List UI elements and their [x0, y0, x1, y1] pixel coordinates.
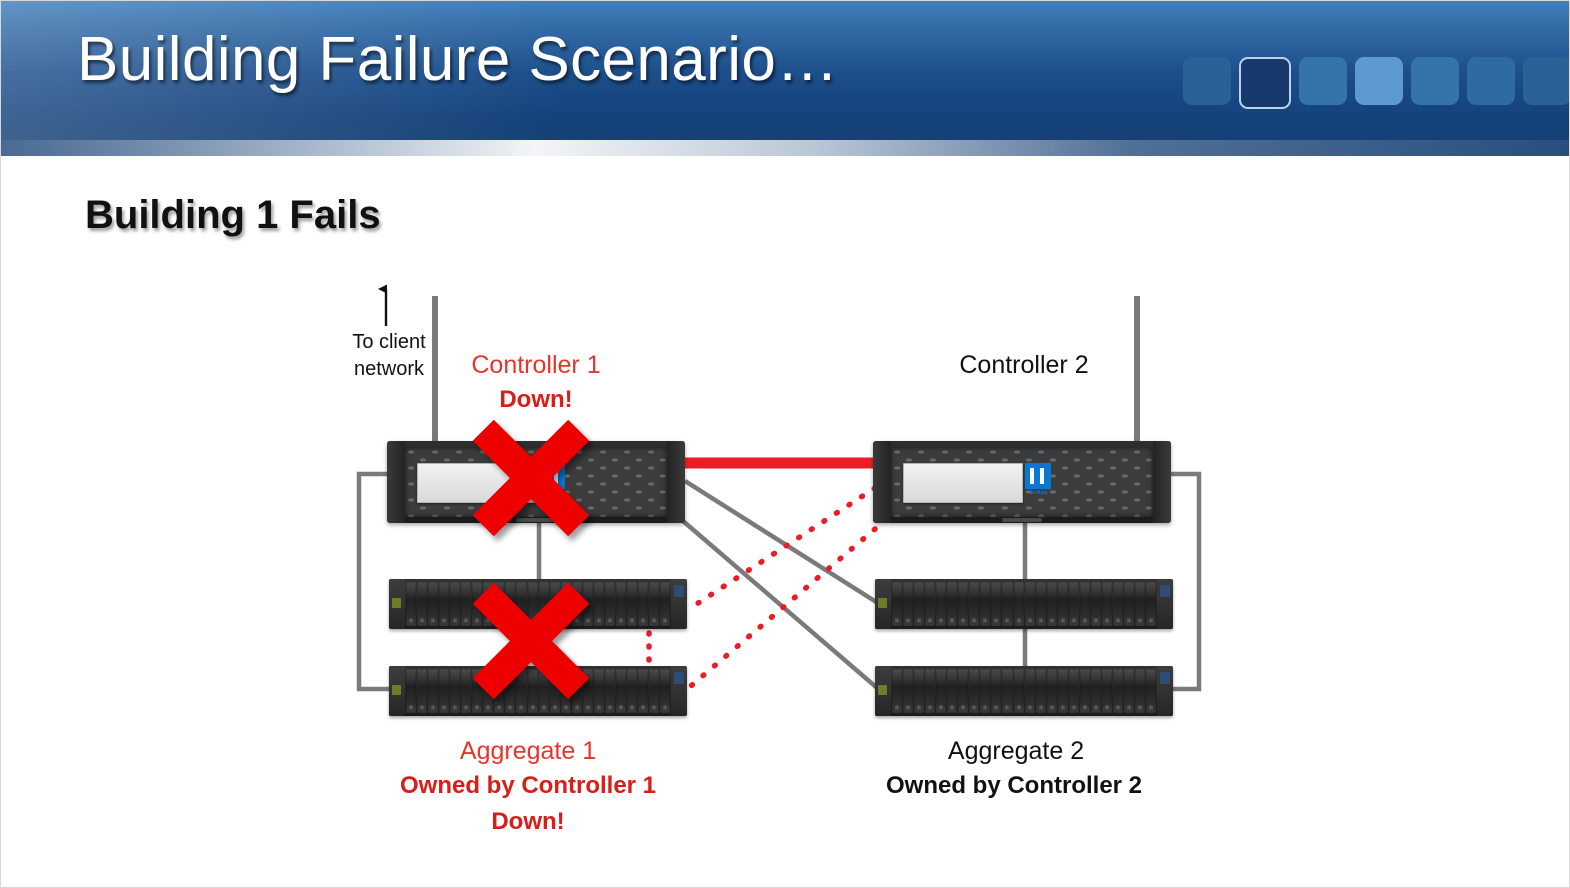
drive-bay	[494, 582, 504, 626]
drive-bay	[572, 582, 582, 626]
drive-bay	[483, 669, 493, 713]
drive-bay	[638, 582, 648, 626]
drive-bay	[539, 669, 549, 713]
drive-bay	[505, 669, 515, 713]
drive-bay	[1002, 582, 1012, 626]
netapp-logo: NetApp	[1023, 463, 1053, 501]
drive-bay	[627, 582, 637, 626]
drive-bay	[958, 669, 968, 713]
drive-bay	[583, 582, 593, 626]
drive-bay	[428, 582, 438, 626]
shelf-endcap-left	[389, 579, 405, 629]
chassis-label-plate	[417, 463, 537, 503]
drive-bay	[892, 582, 902, 626]
controller-2-chassis[interactable]: NetApp	[873, 441, 1171, 523]
aggregate-2-owner: Owned by Controller 2	[877, 772, 1151, 800]
drive-bay	[1058, 669, 1068, 713]
drive-bay	[616, 582, 626, 626]
drive-bay	[914, 582, 924, 626]
shelf-endcap-right	[671, 579, 687, 629]
netapp-logo: NetApp	[537, 463, 567, 501]
drive-bay	[1135, 582, 1145, 626]
shelf-drive-bays	[405, 579, 671, 629]
drive-bay	[1047, 582, 1057, 626]
aggregate-2-label: Aggregate 2	[941, 737, 1091, 766]
drive-bay	[1102, 669, 1112, 713]
aggregate-1-shelf-bottom[interactable]	[389, 666, 687, 716]
drive-bay	[594, 582, 604, 626]
drive-bay	[528, 582, 538, 626]
drive-bay	[594, 669, 604, 713]
drive-bay	[947, 669, 957, 713]
drive-bay	[539, 582, 549, 626]
aggregate-2-shelf-bottom[interactable]	[875, 666, 1173, 716]
drive-bay	[1091, 582, 1101, 626]
drive-bay	[991, 582, 1001, 626]
cable-layer	[1, 1, 1570, 888]
drive-bay	[969, 582, 979, 626]
netapp-logo-mark	[1025, 463, 1051, 489]
drive-bay	[461, 669, 471, 713]
controller-2-label: Controller 2	[949, 351, 1099, 380]
drive-bay	[483, 582, 493, 626]
c2-to-shelf1b-link	[685, 529, 875, 691]
drive-bay	[1124, 582, 1134, 626]
aggregate-1-owner: Owned by Controller 1	[391, 772, 665, 800]
drive-bay	[1124, 669, 1134, 713]
chassis-bottom-slot	[516, 518, 556, 522]
drive-bay	[925, 669, 935, 713]
chassis-endcap-left	[873, 441, 891, 523]
drive-bay	[561, 669, 571, 713]
drive-bay	[1146, 669, 1156, 713]
drive-bay	[1047, 669, 1057, 713]
drive-bay	[550, 669, 560, 713]
drive-bay	[1014, 582, 1024, 626]
drive-bay	[649, 582, 659, 626]
drive-bay	[1135, 669, 1145, 713]
shelf-drive-bays	[891, 666, 1157, 716]
shelf-endcap-left	[389, 666, 405, 716]
drive-bay	[450, 582, 460, 626]
controller-1-label: Controller 1	[461, 351, 611, 380]
chassis-endcap-right	[1153, 441, 1171, 523]
drive-bay	[1069, 669, 1079, 713]
chassis-bottom-slot	[1002, 518, 1042, 522]
drive-bay	[472, 582, 482, 626]
drive-bay	[439, 582, 449, 626]
uplink-label: To client network	[344, 329, 434, 383]
drive-bay	[1091, 669, 1101, 713]
chassis-label-plate	[903, 463, 1023, 503]
drive-bay	[1113, 582, 1123, 626]
drive-bay	[528, 669, 538, 713]
drive-bay	[649, 669, 659, 713]
drive-bay	[1036, 582, 1046, 626]
drive-bay	[947, 582, 957, 626]
drive-bay	[914, 669, 924, 713]
netapp-logo-mark	[539, 463, 565, 489]
drive-bay	[969, 669, 979, 713]
drive-bay	[505, 582, 515, 626]
drive-bay	[1080, 582, 1090, 626]
shelf-endcap-left	[875, 666, 891, 716]
drive-bay	[1080, 669, 1090, 713]
shelf-endcap-right	[1157, 579, 1173, 629]
drive-bay	[1036, 669, 1046, 713]
controller-1-status: Down!	[461, 386, 611, 414]
aggregate-1-label: Aggregate 1	[453, 737, 603, 766]
drive-bay	[572, 669, 582, 713]
netapp-wordmark: NetApp	[1029, 490, 1048, 496]
netapp-wordmark: NetApp	[543, 490, 562, 496]
shelf-endcap-right	[1157, 666, 1173, 716]
drive-bay	[1002, 669, 1012, 713]
drive-bay	[1069, 582, 1079, 626]
drive-bay	[439, 669, 449, 713]
drive-bay	[936, 582, 946, 626]
drive-bay	[450, 669, 460, 713]
chassis-endcap-right	[667, 441, 685, 523]
aggregate-1-status: Down!	[453, 808, 603, 836]
shelf-drive-bays	[891, 579, 1157, 629]
drive-bay	[903, 669, 913, 713]
drive-bay	[1113, 669, 1123, 713]
shelf-endcap-left	[875, 579, 891, 629]
drive-bay	[616, 669, 626, 713]
drive-bay	[583, 669, 593, 713]
slide-canvas: Building Failure Scenario… Building 1 Fa…	[0, 0, 1570, 888]
drive-bay	[1146, 582, 1156, 626]
shelf-drive-bays	[405, 666, 671, 716]
drive-bay	[406, 669, 416, 713]
architecture-diagram: NetApp NetApp	[1, 1, 1570, 888]
drive-bay	[1025, 582, 1035, 626]
drive-bay	[561, 582, 571, 626]
drive-bay	[417, 669, 427, 713]
drive-bay	[472, 669, 482, 713]
drive-bay	[406, 582, 416, 626]
drive-bay	[516, 669, 526, 713]
aggregate-2-shelf-top[interactable]	[875, 579, 1173, 629]
controller-1-chassis[interactable]: NetApp	[387, 441, 685, 523]
drive-bay	[936, 669, 946, 713]
c1-to-shelf2a-link	[685, 481, 881, 605]
drive-bay	[991, 669, 1001, 713]
drive-bay	[627, 669, 637, 713]
shelf-endcap-right	[671, 666, 687, 716]
drive-bay	[1025, 669, 1035, 713]
drive-bay	[550, 582, 560, 626]
drive-bay	[660, 669, 670, 713]
drive-bay	[428, 669, 438, 713]
drive-bay	[494, 669, 504, 713]
drive-bay	[1102, 582, 1112, 626]
drive-bay	[417, 582, 427, 626]
drive-bay	[925, 582, 935, 626]
drive-bay	[980, 582, 990, 626]
drive-bay	[516, 582, 526, 626]
drive-bay	[903, 582, 913, 626]
drive-bay	[958, 582, 968, 626]
drive-bay	[1014, 669, 1024, 713]
drive-bay	[638, 669, 648, 713]
drive-bay	[461, 582, 471, 626]
drive-bay	[660, 582, 670, 626]
drive-bay	[605, 669, 615, 713]
aggregate-1-shelf-top[interactable]	[389, 579, 687, 629]
drive-bay	[980, 669, 990, 713]
drive-bay	[892, 669, 902, 713]
drive-bay	[605, 582, 615, 626]
drive-bay	[1058, 582, 1068, 626]
chassis-endcap-left	[387, 441, 405, 523]
